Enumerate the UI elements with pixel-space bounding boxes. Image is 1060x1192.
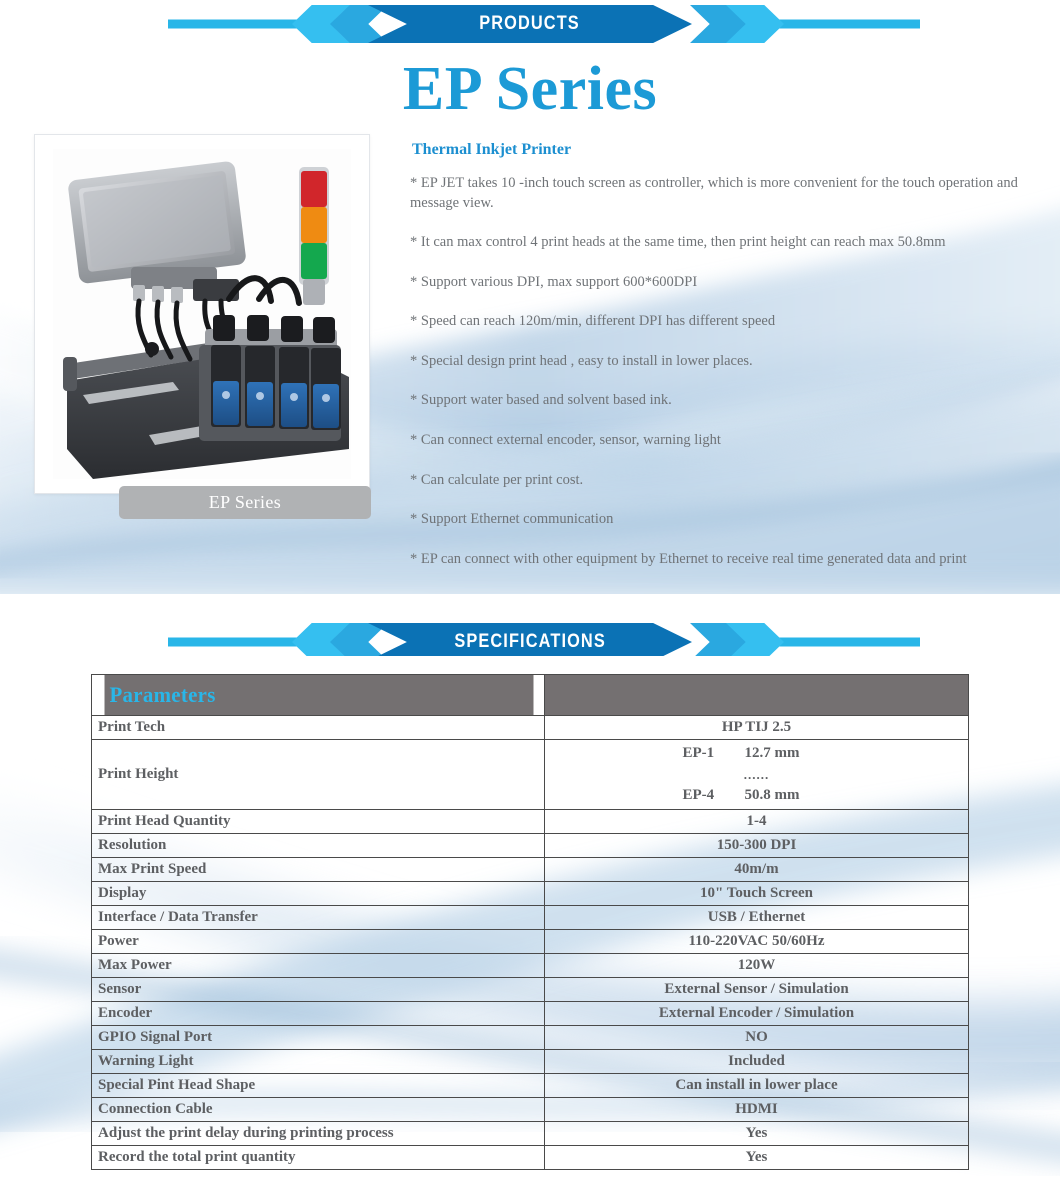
row-key: Connection Cable: [92, 1097, 545, 1121]
hero-section: EP Series Thermal Inkjet Printer: [0, 48, 1060, 594]
row-key: Print Height: [92, 740, 545, 810]
feature-item: * It can max control 4 print heads at th…: [410, 233, 1025, 253]
feature-item: * EP JET takes 10 -inch touch screen as …: [410, 174, 1025, 213]
specifications-banner-label: SPECIFICATIONS: [454, 631, 606, 653]
print-height-value-1: 12.7 mm: [745, 742, 831, 765]
row-value: 110-220VAC 50/60Hz: [545, 929, 969, 953]
row-key: Resolution: [92, 833, 545, 857]
feature-item: * Support Ethernet communication: [410, 510, 1025, 530]
row-value: 150-300 DPI: [545, 833, 969, 857]
row-key: Print Head Quantity: [92, 809, 545, 833]
row-key: Adjust the print delay during printing p…: [92, 1121, 545, 1145]
row-value: Yes: [545, 1121, 969, 1145]
product-photo-caption: EP Series: [119, 486, 371, 519]
specifications-section: Parameters Print Tech HP TIJ 2.5 Print H…: [0, 666, 1060, 1170]
print-height-value-4: 50.8 mm: [745, 784, 831, 807]
row-value: 10" Touch Screen: [545, 881, 969, 905]
row-key: Interface / Data Transfer: [92, 905, 545, 929]
row-value: Can install in lower place: [545, 1073, 969, 1097]
feature-item: * Can connect external encoder, sensor, …: [410, 431, 1025, 451]
feature-item: * Special design print head , easy to in…: [410, 352, 1025, 372]
row-value: HP TIJ 2.5: [545, 716, 969, 740]
table-row: Max Power 120W: [92, 953, 969, 977]
row-value: 40m/m: [545, 857, 969, 881]
table-header-parameters: Parameters: [103, 675, 533, 716]
row-value: 120W: [545, 953, 969, 977]
row-key: Max Power: [92, 953, 545, 977]
row-key: Special Pint Head Shape: [92, 1073, 545, 1097]
row-key: Print Tech: [92, 716, 545, 740]
row-key: GPIO Signal Port: [92, 1025, 545, 1049]
specifications-table: Parameters Print Tech HP TIJ 2.5 Print H…: [91, 674, 969, 1170]
row-key: Record the total print quantity: [92, 1145, 545, 1169]
print-height-tag-1: EP-1: [683, 742, 745, 765]
feature-list: * EP JET takes 10 -inch touch screen as …: [410, 174, 1025, 589]
feature-item: * Support various DPI, max support 600*6…: [410, 273, 1025, 293]
table-row: Encoder External Encoder / Simulation: [92, 1001, 969, 1025]
row-key: Sensor: [92, 977, 545, 1001]
table-row: Sensor External Sensor / Simulation: [92, 977, 969, 1001]
table-header-value: [545, 675, 969, 716]
row-value: External Encoder / Simulation: [545, 1001, 969, 1025]
feature-item: * Support water based and solvent based …: [410, 391, 1025, 411]
row-value: USB / Ethernet: [545, 905, 969, 929]
table-row: Interface / Data Transfer USB / Ethernet: [92, 905, 969, 929]
row-value: EP-112.7 mm ...... EP-450.8 mm: [545, 740, 969, 810]
table-row: Record the total print quantity Yes: [92, 1145, 969, 1169]
row-value: External Sensor / Simulation: [545, 977, 969, 1001]
products-banner-label: PRODUCTS: [480, 13, 581, 35]
table-row: Max Print Speed 40m/m: [92, 857, 969, 881]
table-row: Power 110-220VAC 50/60Hz: [92, 929, 969, 953]
row-value: Yes: [545, 1145, 969, 1169]
feature-item: * Can calculate per print cost.: [410, 471, 1025, 491]
row-value: 1-4: [545, 809, 969, 833]
table-row: Special Pint Head Shape Can install in l…: [92, 1073, 969, 1097]
row-key: Encoder: [92, 1001, 545, 1025]
row-key: Display: [92, 881, 545, 905]
products-banner: PRODUCTS: [0, 0, 1060, 48]
page-subtitle: Thermal Inkjet Printer: [412, 141, 571, 159]
table-row: Warning Light Included: [92, 1049, 969, 1073]
feature-item: * EP can connect with other equipment by…: [410, 550, 1025, 570]
products-banner-core: PRODUCTS: [368, 5, 692, 43]
product-photo-card: [34, 134, 370, 494]
row-key: Max Print Speed: [92, 857, 545, 881]
print-height-line-1: EP-112.7 mm: [551, 742, 962, 765]
row-key: Power: [92, 929, 545, 953]
page-title: EP Series: [0, 48, 1060, 125]
row-value: HDMI: [545, 1097, 969, 1121]
table-row-print-height: Print Height EP-112.7 mm ...... EP-450.8…: [92, 740, 969, 810]
table-row: Print Tech HP TIJ 2.5: [92, 716, 969, 740]
table-row: Resolution 150-300 DPI: [92, 833, 969, 857]
table-row: GPIO Signal Port NO: [92, 1025, 969, 1049]
row-value: Included: [545, 1049, 969, 1073]
print-height-tag-4: EP-4: [683, 784, 745, 807]
table-row: Adjust the print delay during printing p…: [92, 1121, 969, 1145]
feature-item: * Speed can reach 120m/min, different DP…: [410, 312, 1025, 332]
table-row: Display 10" Touch Screen: [92, 881, 969, 905]
product-photo: [53, 149, 351, 479]
print-height-line-3: EP-450.8 mm: [551, 784, 962, 807]
table-row: Connection Cable HDMI: [92, 1097, 969, 1121]
print-height-ellipsis: ......: [551, 765, 962, 785]
table-row: Print Head Quantity 1-4: [92, 809, 969, 833]
row-value: NO: [545, 1025, 969, 1049]
row-key: Warning Light: [92, 1049, 545, 1073]
table-header-row: Parameters: [92, 675, 969, 716]
